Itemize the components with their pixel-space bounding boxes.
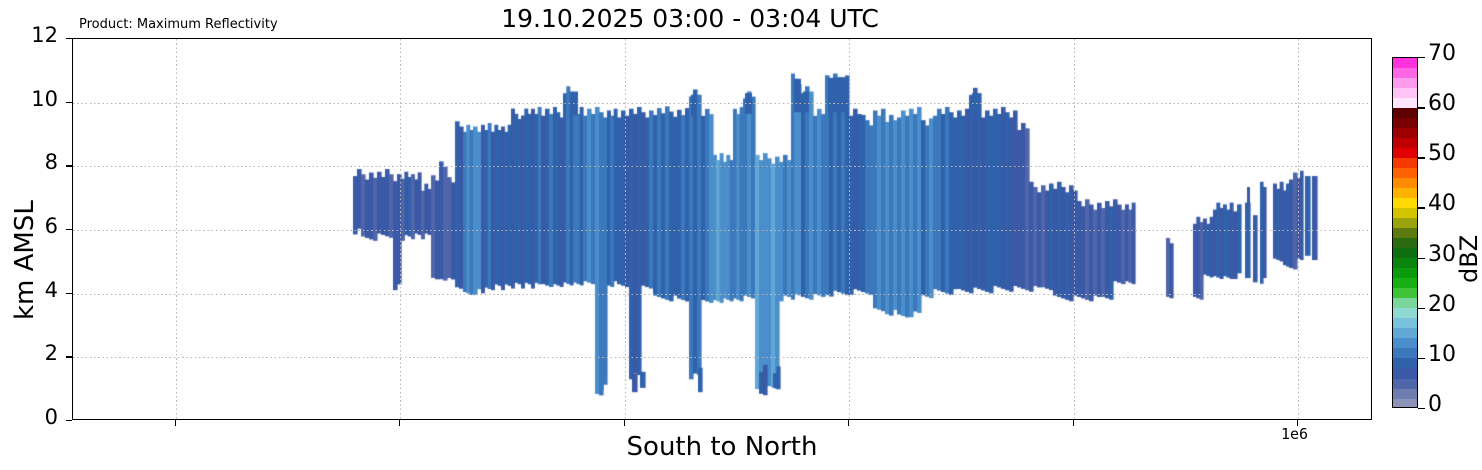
colorbar-band xyxy=(1393,348,1417,358)
colorbar-band xyxy=(1393,148,1417,158)
gridline-horizontal xyxy=(73,230,1371,231)
colorbar-band xyxy=(1393,288,1417,298)
gridline-horizontal xyxy=(73,294,1371,295)
colorbar-band xyxy=(1393,238,1417,248)
colorbar-band xyxy=(1393,308,1417,318)
x-axis-label: South to North xyxy=(72,432,1372,462)
gridline-horizontal xyxy=(73,357,1371,358)
colorbar-band xyxy=(1393,338,1417,348)
y-axis-tick xyxy=(66,38,72,39)
y-axis-tick xyxy=(66,420,72,421)
colorbar-band xyxy=(1393,218,1417,228)
colorbar-band xyxy=(1393,138,1417,148)
gridline-vertical xyxy=(176,39,177,419)
y-axis-label: km AMSL xyxy=(10,200,40,320)
y-tick-label: 12 xyxy=(0,23,58,47)
colorbar-band xyxy=(1393,318,1417,328)
y-tick-label: 8 xyxy=(0,150,58,174)
x-axis-tick xyxy=(1073,420,1074,426)
colorbar-band xyxy=(1393,158,1417,168)
colorbar-tick-label: 60 xyxy=(1428,91,1456,116)
colorbar-band xyxy=(1393,188,1417,198)
gridline-vertical xyxy=(625,39,626,419)
colorbar-tick xyxy=(1418,207,1425,208)
colorbar-band xyxy=(1393,198,1417,208)
colorbar-band xyxy=(1393,328,1417,338)
colorbar-band xyxy=(1393,78,1417,88)
gridline-horizontal xyxy=(73,166,1371,167)
colorbar-band xyxy=(1393,258,1417,268)
radar-data-layer xyxy=(73,39,1371,419)
y-tick-label: 0 xyxy=(0,405,58,429)
colorbar-tick-label: 10 xyxy=(1428,342,1456,367)
colorbar-tick xyxy=(1418,358,1425,359)
gridline-vertical xyxy=(849,39,850,419)
colorbar-band xyxy=(1393,118,1417,128)
colorbar-band xyxy=(1393,368,1417,378)
colorbar-band xyxy=(1393,168,1417,178)
radar-cross-section-figure: 19.10.2025 03:00 - 03:04 UTC Product: Ma… xyxy=(0,0,1482,470)
y-axis-tick xyxy=(66,293,72,294)
y-axis-tick xyxy=(66,356,72,357)
colorbar-band xyxy=(1393,389,1417,399)
colorbar-band xyxy=(1393,399,1417,408)
colorbar-band xyxy=(1393,248,1417,258)
y-tick-label: 2 xyxy=(0,341,58,365)
plot-area xyxy=(72,38,1372,420)
x-axis-tick xyxy=(848,420,849,426)
y-axis-tick xyxy=(66,165,72,166)
colorbar-tick-label: 50 xyxy=(1428,141,1456,166)
colorbar-band xyxy=(1393,178,1417,188)
gridline-vertical xyxy=(1074,39,1075,419)
colorbar-band xyxy=(1393,298,1417,308)
colorbar-band xyxy=(1393,88,1417,98)
colorbar-tick-label: 20 xyxy=(1428,292,1456,317)
colorbar-band xyxy=(1393,98,1417,108)
colorbar xyxy=(1392,57,1418,408)
x-axis-tick xyxy=(624,420,625,426)
y-axis-tick xyxy=(66,102,72,103)
y-axis-tick xyxy=(66,229,72,230)
colorbar-tick xyxy=(1418,157,1425,158)
y-tick-label: 10 xyxy=(0,87,58,111)
colorbar-band xyxy=(1393,108,1417,118)
x-axis-tick xyxy=(175,420,176,426)
colorbar-tick xyxy=(1418,258,1425,259)
colorbar-tick xyxy=(1418,57,1425,58)
x-axis-tick xyxy=(399,420,400,426)
colorbar-tick xyxy=(1418,408,1425,409)
colorbar-band xyxy=(1393,58,1417,68)
colorbar-tick-label: 0 xyxy=(1428,392,1442,417)
colorbar-band xyxy=(1393,68,1417,78)
colorbar-tick xyxy=(1418,107,1425,108)
x-axis-offset-label: 1e6 xyxy=(1281,425,1308,443)
colorbar-tick-label: 40 xyxy=(1428,191,1456,216)
colorbar-tick xyxy=(1418,308,1425,309)
colorbar-band xyxy=(1393,358,1417,368)
gridline-vertical xyxy=(1298,39,1299,419)
colorbar-label: dBZ xyxy=(1455,235,1482,283)
colorbar-tick-label: 70 xyxy=(1428,41,1456,66)
colorbar-band xyxy=(1393,208,1417,218)
colorbar-band xyxy=(1393,379,1417,389)
gridline-vertical xyxy=(400,39,401,419)
gridline-horizontal xyxy=(73,103,1371,104)
colorbar-band xyxy=(1393,228,1417,238)
colorbar-band xyxy=(1393,128,1417,138)
product-annotation: Product: Maximum Reflectivity xyxy=(79,17,278,32)
colorbar-band xyxy=(1393,278,1417,288)
colorbar-tick-label: 30 xyxy=(1428,242,1456,267)
colorbar-band xyxy=(1393,268,1417,278)
